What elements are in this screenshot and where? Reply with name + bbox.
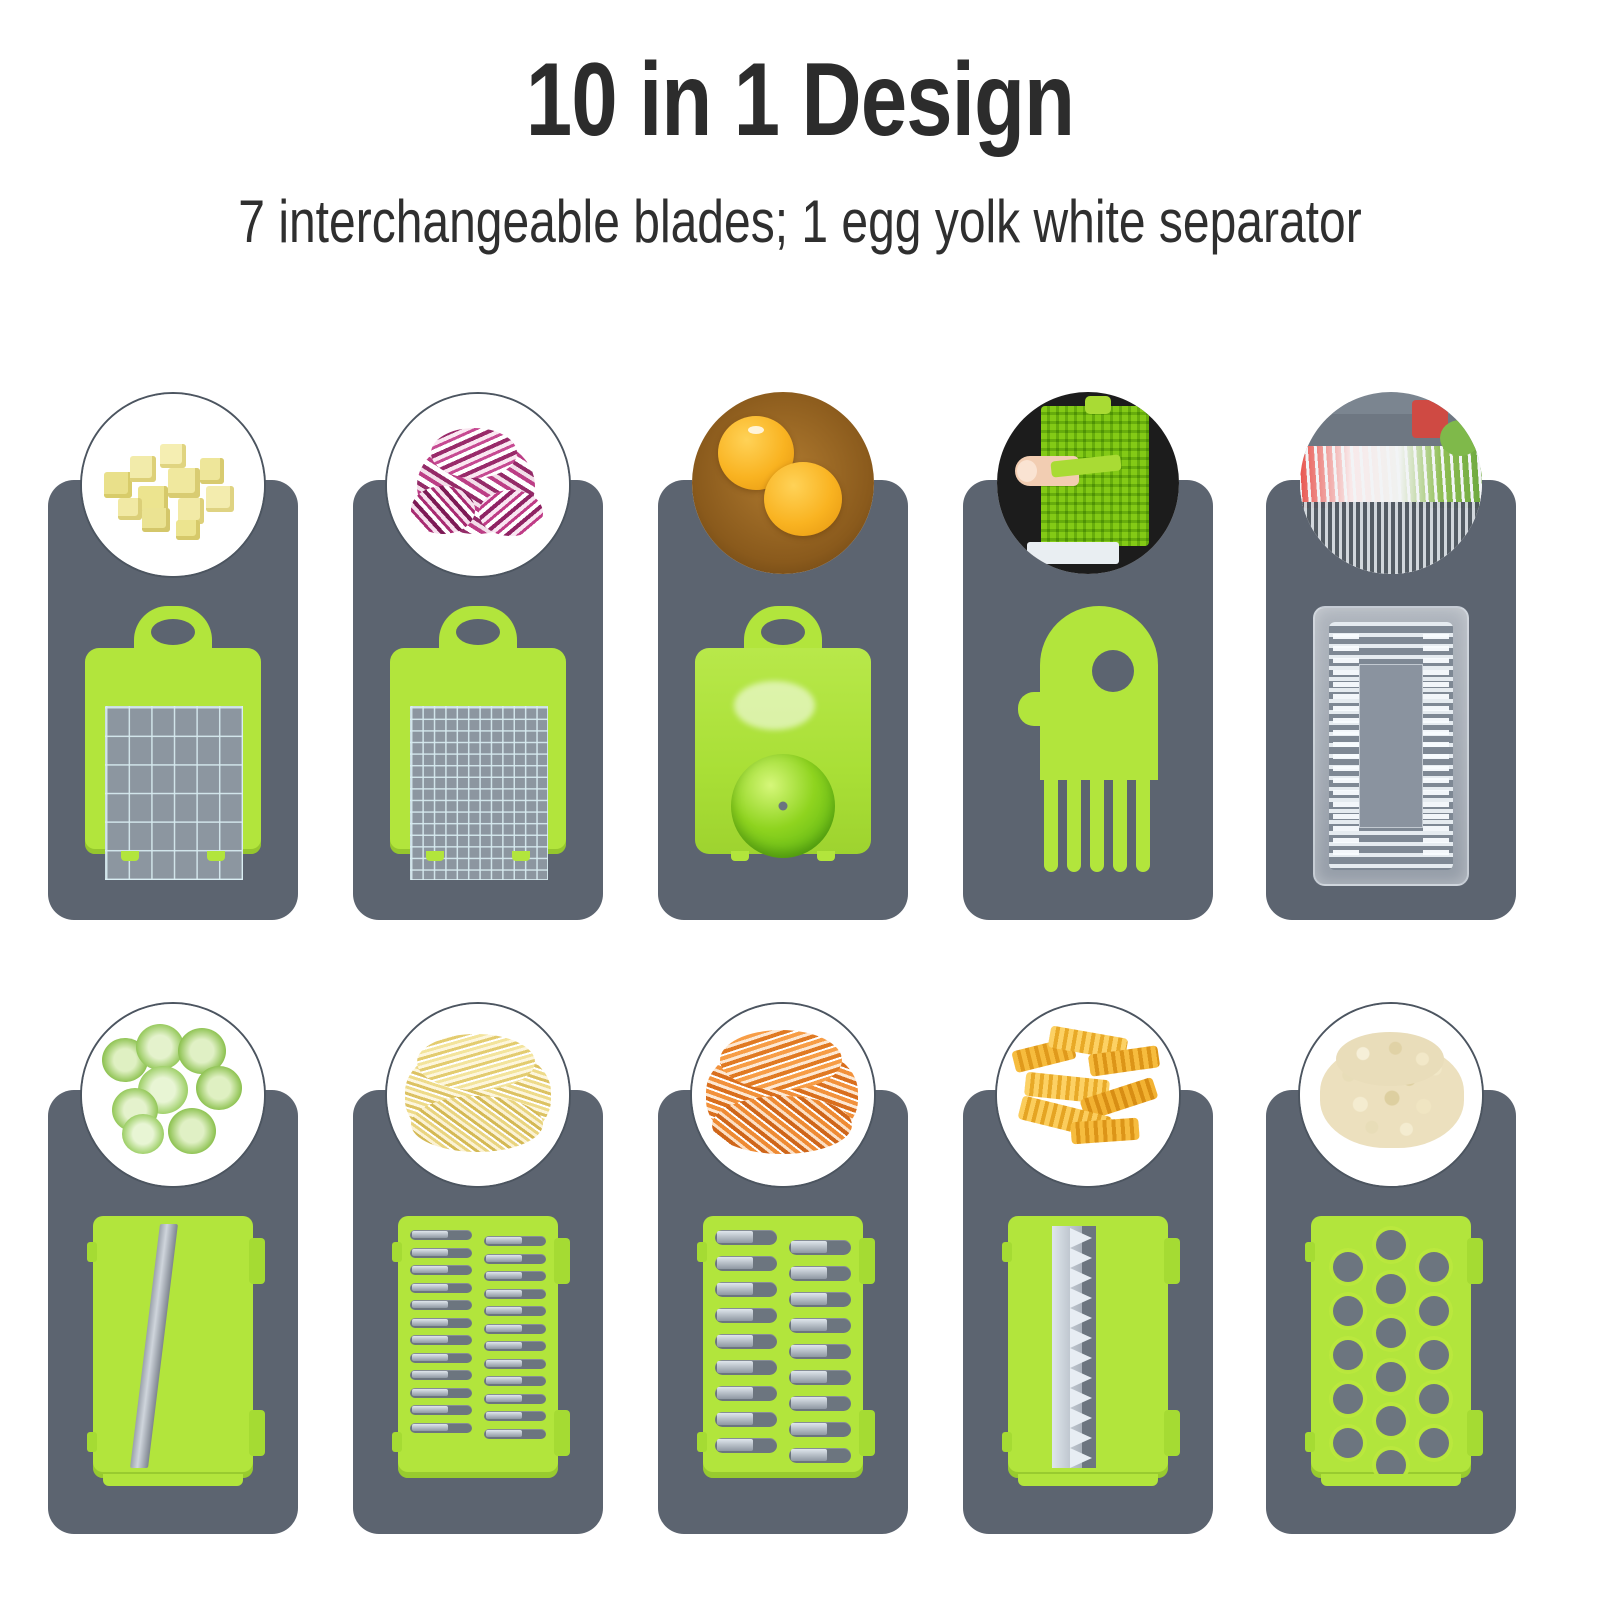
julienne-slot [484,1429,546,1439]
food-photo-shredded-carrot [690,1002,876,1188]
slicer-clip-top [249,1238,265,1284]
julienne-slot [410,1265,472,1275]
feature-item-6[interactable] [40,1002,306,1536]
julienne-slot [789,1396,851,1411]
grater-foot [1321,1474,1461,1486]
blade-foot-left [426,851,444,861]
separator-dome [731,754,835,858]
grater-hole [1333,1296,1363,1326]
grater-hole [1419,1428,1449,1458]
grater-hole [1419,1340,1449,1370]
feature-item-9[interactable] [955,1002,1221,1536]
julienne-notch-top [697,1242,707,1262]
grater-hole [1376,1230,1406,1260]
comb-hanging-hole [1092,650,1134,692]
julienne-slot [410,1405,472,1415]
blade-frame [390,648,566,854]
slicer-frame [93,1216,253,1478]
comb-tooth [1067,776,1081,872]
julienne-slot [789,1266,851,1281]
julienne-slot [715,1308,777,1323]
slicer-clip-bottom [249,1410,265,1456]
page-title: 10 in 1 Design [160,48,1440,152]
comb-tooth [1136,776,1150,872]
tool-drain-basket [1258,588,1524,916]
julienne-slot [410,1230,472,1240]
crinkle-fries-image [997,1004,1179,1186]
basket-shell [1313,606,1469,886]
blade-frame [85,648,261,854]
potato-cubes-image [82,394,264,576]
julienne-slot [484,1289,546,1299]
grater-hole [1333,1340,1363,1370]
julienne-slot [484,1394,546,1404]
feature-item-8[interactable] [650,1002,916,1536]
grater-hole [1333,1384,1363,1414]
feature-item-7[interactable] [345,1002,611,1536]
julienne-slot [789,1370,851,1385]
julienne-notch-top [392,1242,402,1262]
julienne-frame-coarse [703,1216,863,1478]
grater-frame [1311,1216,1471,1478]
tool-wavy-blade [955,1198,1221,1530]
grater-hole [1419,1296,1449,1326]
julienne-slot [410,1370,472,1380]
food-photo-potato-julienne [385,1002,571,1188]
wavy-foot [1018,1474,1158,1486]
grater-hole [1376,1362,1406,1392]
julienne-slot [715,1256,777,1271]
julienne-slot [484,1271,546,1281]
julienne-slot [410,1353,472,1363]
tool-hole-grater [1258,1198,1524,1530]
julienne-slot [789,1240,851,1255]
slicer-notch-top [87,1242,97,1262]
blade-foot-right [512,851,530,861]
wavy-clip-bottom [1164,1410,1180,1456]
julienne-slot [410,1318,472,1328]
grater-clip-top [1467,1238,1483,1284]
slicer-notch-bottom [87,1432,97,1452]
egg-yolks-image [692,392,874,574]
julienne-column-left [715,1230,777,1464]
cucumber-slices-image [82,1004,264,1186]
julienne-slot [484,1306,546,1316]
sliced-vegetables-image [1300,392,1482,574]
tool-dicing-blade-small [345,588,611,916]
blade-foot-left [121,851,139,861]
straight-steel-blade [130,1224,178,1468]
julienne-column-left [410,1230,472,1464]
feature-item-10[interactable] [1258,1002,1524,1536]
julienne-slot [484,1324,546,1334]
tool-egg-separator [650,588,916,916]
julienne-notch-bottom [392,1432,402,1452]
tool-julienne-fine [345,1198,611,1530]
julienne-slot [410,1388,472,1398]
julienne-slot [789,1292,851,1307]
grater-hole [1376,1274,1406,1304]
grater-hole [1376,1318,1406,1348]
julienne-slot [484,1254,546,1264]
basket-rib-left [1333,634,1359,858]
red-onion-dice-image [387,394,569,576]
shredded-carrot-image [692,1004,874,1186]
julienne-slot [484,1359,546,1369]
julienne-slot [484,1411,546,1421]
gloss-highlight [734,681,815,730]
grater-notch-top [1305,1242,1315,1262]
julienne-slot [715,1360,777,1375]
page-subtitle: 7 interchangeable blades; 1 egg yolk whi… [160,192,1440,252]
feature-item-5[interactable] [1258,392,1524,922]
feature-item-1[interactable] [40,392,306,922]
julienne-clip-bottom [859,1410,875,1456]
grater-hole [1333,1428,1363,1458]
julienne-slot [715,1334,777,1349]
julienne-slot [410,1283,472,1293]
julienne-slot [410,1423,472,1433]
julienne-slot [410,1300,472,1310]
infographic-page: 10 in 1 Design 7 interchangeable blades;… [0,0,1600,1600]
tool-julienne-coarse [650,1198,916,1530]
julienne-slot [789,1448,851,1463]
julienne-frame-fine [398,1216,558,1478]
julienne-slot [410,1335,472,1345]
grater-notch-bottom [1305,1432,1315,1452]
wavy-frame [1008,1216,1168,1478]
separator-body [695,648,871,854]
fine-julienne-strips-image [387,1004,569,1186]
julienne-slot [715,1438,777,1453]
comb-tooth [1113,776,1127,872]
grater-hole [1419,1384,1449,1414]
tool-straight-slicer [40,1198,306,1530]
julienne-slot [789,1318,851,1333]
grater-clip-bottom [1467,1410,1483,1456]
food-photo-diced-onion [385,392,571,578]
julienne-column-right [484,1236,546,1464]
tool-cleaning-comb [955,588,1221,916]
header: 10 in 1 Design 7 interchangeable blades;… [0,0,1600,252]
basket-plate [1359,664,1423,828]
julienne-slot [715,1386,777,1401]
tool-dicing-blade-large [40,588,306,916]
food-photo-cleaning-brush [997,392,1179,574]
hand-with-brush-image [997,392,1179,574]
food-photo-cucumber-slices [80,1002,266,1188]
slicer-foot [103,1474,243,1486]
julienne-slot [715,1282,777,1297]
julienne-slot [789,1422,851,1437]
food-photo-egg-yolks [692,392,874,574]
julienne-slot [484,1341,546,1351]
food-photo-minced-garlic [1298,1002,1484,1188]
comb-tooth [1090,776,1104,872]
julienne-slot [484,1376,546,1386]
julienne-column-right [789,1240,851,1464]
food-photo-crinkle-fries [995,1002,1181,1188]
feature-item-3[interactable] [650,392,916,922]
comb-tooth [1044,776,1058,872]
grater-hole [1376,1406,1406,1436]
wavy-blade-slot [1052,1226,1096,1468]
basket-rib-right [1423,634,1449,858]
julienne-slot [789,1344,851,1359]
wavy-clip-top [1164,1238,1180,1284]
feature-item-4[interactable] [955,392,1221,922]
wavy-notch-top [1002,1242,1012,1262]
blade-foot-right [207,851,225,861]
julienne-clip-top [554,1238,570,1284]
food-photo-sliced-veg-basket [1300,392,1482,574]
julienne-slot [715,1412,777,1427]
separator-foot-left [731,851,749,861]
julienne-slot [715,1230,777,1245]
julienne-slot [410,1248,472,1258]
minced-garlic-image [1300,1004,1482,1186]
basket-interior [1329,622,1453,870]
feature-item-2[interactable] [345,392,611,922]
julienne-notch-bottom [697,1432,707,1452]
wavy-notch-bottom [1002,1432,1012,1452]
julienne-slot [484,1236,546,1246]
julienne-clip-top [859,1238,875,1284]
julienne-clip-bottom [554,1410,570,1456]
food-photo-diced-potato [80,392,266,578]
grater-hole [1333,1252,1363,1282]
grater-hole [1419,1252,1449,1282]
separator-foot-right [817,851,835,861]
